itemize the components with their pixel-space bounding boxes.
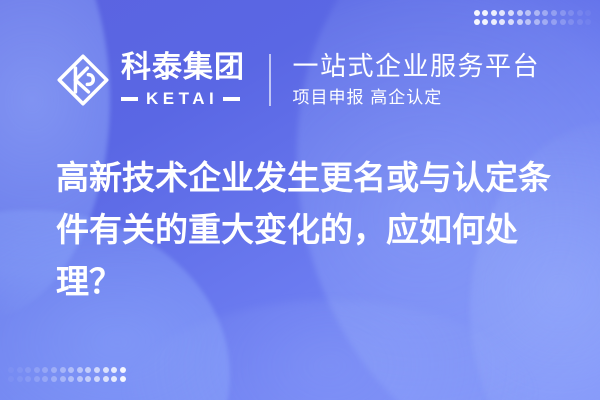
decorative-dot [525, 19, 531, 25]
decorative-dot [491, 19, 497, 25]
decorative-dot [560, 19, 566, 25]
decorative-dot [94, 367, 100, 373]
decorative-dot [103, 367, 109, 373]
decorative-dot [85, 367, 91, 373]
page-title: 高新技术企业发生更名或与认定条件有关的重大变化的，应如何处理？ [56, 152, 556, 308]
logo-text-block: 科泰集团 KETAI [121, 53, 245, 107]
tagline-primary: 一站式企业服务平台 [293, 52, 541, 81]
decorative-dot [585, 10, 591, 16]
decorative-dot [120, 376, 126, 382]
decorative-dot [60, 376, 66, 382]
decorative-dot [585, 19, 591, 25]
dot-row [474, 10, 594, 16]
decorative-dot [111, 367, 117, 373]
decorative-dot [42, 376, 48, 382]
logo-dash-left [121, 97, 138, 101]
decorative-dot [508, 10, 514, 16]
dot-row [8, 367, 128, 373]
decorative-dot [111, 376, 117, 382]
decorative-dot [103, 376, 109, 382]
decorative-dot [25, 367, 31, 373]
banner-header: 科泰集团 KETAI 一站式企业服务平台 项目申报 高企认定 [56, 44, 540, 116]
decorative-dot [474, 10, 480, 16]
decorative-dot [517, 10, 523, 16]
company-name-en: KETAI [146, 90, 218, 107]
decorative-dot [77, 376, 83, 382]
dot-grid-bottom-left [8, 367, 128, 382]
decorative-dot [499, 19, 505, 25]
decorative-dot [491, 10, 497, 16]
decorative-dot [25, 376, 31, 382]
dot-row [474, 19, 594, 25]
decorative-dot [508, 19, 514, 25]
header-divider [269, 54, 271, 106]
decorative-dot [34, 367, 40, 373]
decorative-dot [534, 10, 540, 16]
decorative-dot [85, 376, 91, 382]
decorative-dot [68, 376, 74, 382]
decorative-dot [577, 19, 583, 25]
tagline-block: 一站式企业服务平台 项目申报 高企认定 [293, 52, 541, 107]
decorative-dot [517, 19, 523, 25]
decorative-dot [120, 367, 126, 373]
decorative-dot [482, 19, 488, 25]
tagline-secondary: 项目申报 高企认定 [293, 89, 541, 108]
decorative-dot [560, 10, 566, 16]
logo-dash-right [223, 97, 240, 101]
dot-row [8, 376, 128, 382]
decorative-dot [77, 367, 83, 373]
decorative-dot [60, 367, 66, 373]
decorative-dot [482, 10, 488, 16]
decorative-dot [542, 19, 548, 25]
decorative-dot [34, 376, 40, 382]
decorative-dot [542, 10, 548, 16]
ketai-diamond-kp-logo-icon [56, 53, 110, 107]
company-name-en-row: KETAI [121, 90, 245, 107]
decorative-dot [534, 19, 540, 25]
decorative-dot [51, 367, 57, 373]
decorative-dot [68, 367, 74, 373]
decorative-dot [51, 376, 57, 382]
decorative-dot [8, 367, 14, 373]
decorative-dot [17, 376, 23, 382]
decorative-dot [568, 19, 574, 25]
decorative-dot [499, 10, 505, 16]
decorative-dot [551, 10, 557, 16]
background-blob-bottom [120, 300, 540, 400]
decorative-dot [474, 19, 480, 25]
decorative-dot [577, 10, 583, 16]
dot-grid-top-right [474, 10, 594, 25]
decorative-dot [42, 367, 48, 373]
decorative-dot [551, 19, 557, 25]
company-name-cn: 科泰集团 [121, 53, 245, 83]
promo-banner: 科泰集团 KETAI 一站式企业服务平台 项目申报 高企认定 高新技术企业发生更… [0, 0, 600, 400]
decorative-dot [568, 10, 574, 16]
decorative-dot [8, 376, 14, 382]
decorative-dot [525, 10, 531, 16]
decorative-dot [17, 367, 23, 373]
decorative-dot [94, 376, 100, 382]
